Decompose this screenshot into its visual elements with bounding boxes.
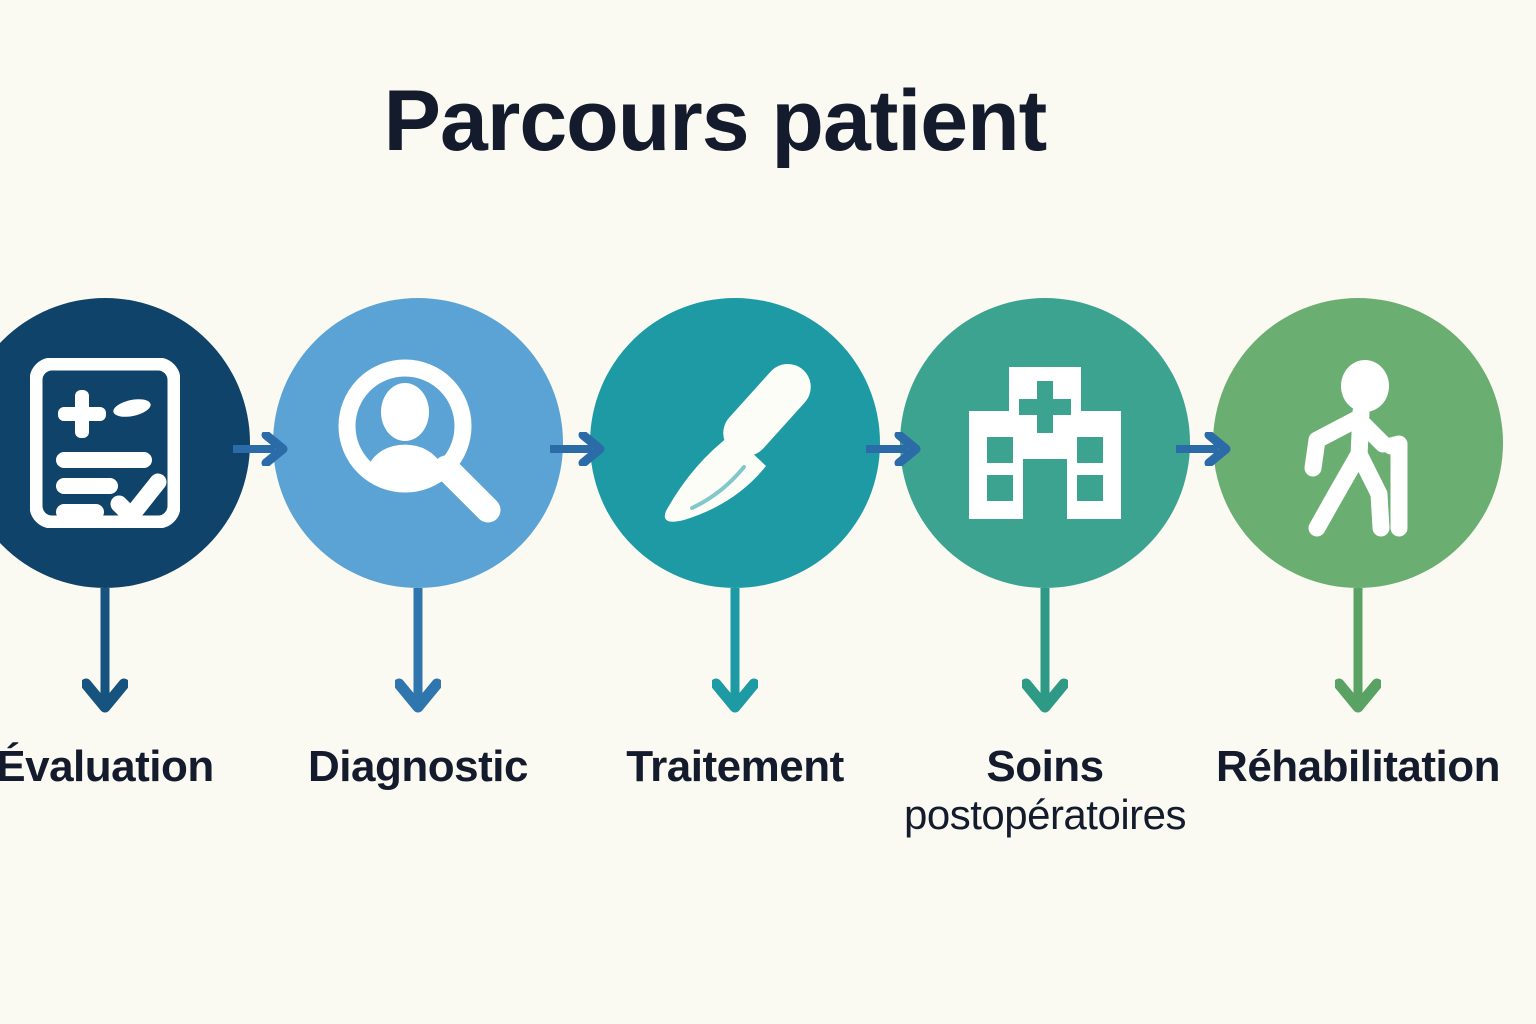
- step-3-label-line1: Traitement: [626, 742, 844, 791]
- hospital-building-icon: [957, 355, 1133, 531]
- step-4-label-line2: postopératoires: [845, 791, 1245, 838]
- step-4-label-line1: Soins: [986, 742, 1103, 791]
- step-3-down-arrow: [712, 588, 758, 718]
- diagram-canvas: Parcours patient Évaluati: [0, 0, 1536, 1024]
- connector-arrow-2: [550, 432, 610, 466]
- step-4-down-arrow: [1022, 588, 1068, 718]
- step-2-circle[interactable]: [273, 298, 563, 588]
- connector-arrow-1: [233, 432, 293, 466]
- step-2-label-line1: Diagnostic: [308, 742, 528, 791]
- step-2-down-arrow: [395, 588, 441, 718]
- step-5-down-arrow: [1335, 588, 1381, 718]
- step-4-circle[interactable]: [900, 298, 1190, 588]
- step-5-label: Réhabilitation: [1148, 742, 1536, 791]
- connector-arrow-4: [1176, 432, 1236, 466]
- connector-arrow-3: [866, 432, 926, 466]
- step-5-label-line1: Réhabilitation: [1216, 742, 1500, 791]
- step-5-circle[interactable]: [1213, 298, 1503, 588]
- step-1-label-line1: Évaluation: [0, 742, 214, 791]
- clipboard-medical-record-icon: [30, 358, 180, 528]
- scalpel-icon: [640, 348, 830, 538]
- step-1-down-arrow: [82, 588, 128, 718]
- step-3-circle[interactable]: [590, 298, 880, 588]
- walking-person-cane-icon: [1273, 348, 1443, 538]
- step-1-circle[interactable]: [0, 298, 250, 588]
- magnifier-person-icon: [328, 353, 508, 533]
- page-title: Parcours patient: [0, 78, 1430, 164]
